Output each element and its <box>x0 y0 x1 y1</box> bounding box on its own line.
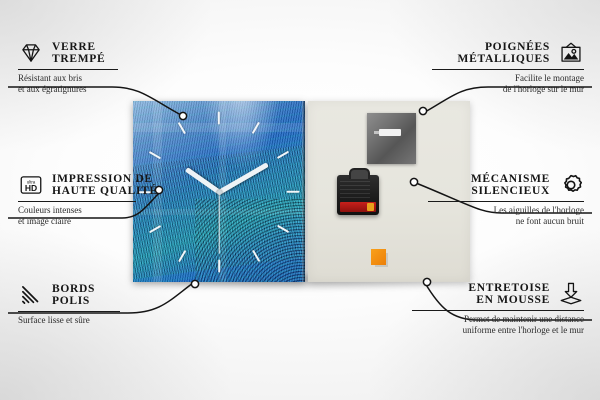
polished-edge-icon <box>18 282 44 308</box>
feature-subtitle: Couleurs intenses et image claire <box>18 205 170 227</box>
glass-edge <box>302 101 305 282</box>
feature-header: BORDS POLIS <box>18 282 166 308</box>
feature-header: ENTRETOISE EN MOUSSE <box>412 281 584 307</box>
feature-title: POIGNÉES MÉTALLIQUES <box>458 41 550 66</box>
mechanism-label <box>340 181 370 199</box>
infographic-canvas: VERRE TREMPÉ Résistant aux bris et aux é… <box>0 0 600 400</box>
feature-subtitle: Résistant aux bris et aux égratignures <box>18 73 166 95</box>
feature-rule <box>18 311 120 312</box>
feature-rule <box>18 201 136 202</box>
metal-hanger-plate <box>367 113 416 164</box>
hanger-slot <box>379 129 401 136</box>
feature-impression-haute-qualite[interactable]: ultra HD IMPRESSION DE HAUTE QUALITÉ Cou… <box>18 172 170 227</box>
picture-frame-hook-icon <box>558 40 584 66</box>
feature-header: VERRE TREMPÉ <box>18 40 166 66</box>
feature-title: IMPRESSION DE HAUTE QUALITÉ <box>52 173 158 198</box>
feature-title: ENTRETOISE EN MOUSSE <box>468 282 550 307</box>
press-down-pad-icon <box>558 281 584 307</box>
feature-entretoise-en-mousse[interactable]: ENTRETOISE EN MOUSSE Permet de maintenir… <box>412 281 584 336</box>
feature-rule <box>18 69 118 70</box>
glass-glare <box>202 101 281 170</box>
feature-bords-polis[interactable]: BORDS POLIS Surface lisse et sûre <box>18 282 166 326</box>
battery <box>340 202 376 212</box>
feature-title: BORDS POLIS <box>52 283 95 308</box>
feature-header: ultra HD IMPRESSION DE HAUTE QUALITÉ <box>18 172 170 198</box>
hands-pin <box>217 190 222 195</box>
second-hand <box>218 192 219 254</box>
ultra-hd-icon: ultra HD <box>18 172 44 198</box>
feature-subtitle: Facilite le montage de l'horloge sur le … <box>432 73 584 95</box>
hour-marker <box>218 260 220 273</box>
feature-title: MÉCANISME SILENCIEUX <box>471 173 550 198</box>
quartz-mechanism <box>337 175 379 215</box>
foam-spacer <box>371 249 386 265</box>
feature-subtitle: Les aiguilles de l'horloge ne font aucun… <box>428 205 584 227</box>
feature-header: MÉCANISME SILENCIEUX <box>428 172 584 198</box>
mechanism-loop <box>349 168 370 179</box>
ultra-hd-icon-large-text: HD <box>25 183 37 193</box>
pattern-moire-secondary <box>195 199 305 282</box>
gear-icon <box>558 172 584 198</box>
feature-rule <box>428 201 584 202</box>
feature-rule <box>432 69 584 70</box>
feature-verre-trempe[interactable]: VERRE TREMPÉ Résistant aux bris et aux é… <box>18 40 166 95</box>
feature-header: POIGNÉES MÉTALLIQUES <box>432 40 584 66</box>
feature-poignees-metalliques[interactable]: POIGNÉES MÉTALLIQUES Facilite le montage… <box>432 40 584 95</box>
feature-rule <box>412 310 584 311</box>
feature-subtitle: Surface lisse et sûre <box>18 315 166 326</box>
diamond-icon <box>18 40 44 66</box>
product-image <box>133 101 470 282</box>
feature-subtitle: Permet de maintenir une distance uniform… <box>412 314 584 336</box>
feature-mecanisme-silencieux[interactable]: MÉCANISME SILENCIEUX Les aiguilles de l'… <box>428 172 584 227</box>
feature-title: VERRE TREMPÉ <box>52 41 105 66</box>
